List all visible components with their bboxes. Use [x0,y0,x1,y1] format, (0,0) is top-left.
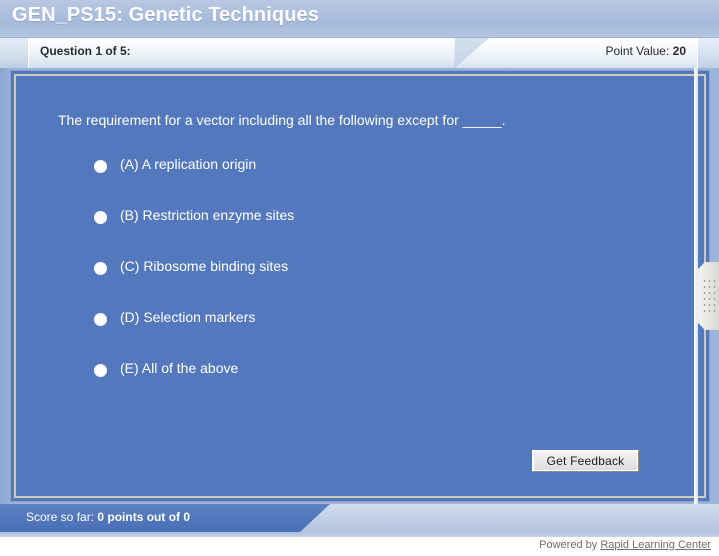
powered-by-prefix: Powered by [539,539,600,551]
score-bar: Score so far: 0 points out of 0 [0,504,719,532]
footer: Powered by Rapid Learning Center [0,532,719,556]
rapid-learning-center-link[interactable]: Rapid Learning Center [600,539,711,551]
question-counter-label: Question 1 of 5: [40,44,131,58]
meta-bar-right-shoulder [697,38,719,68]
answer-option-label: (E) All of the above [120,360,238,376]
footer-accent-strip [0,532,719,537]
powered-by-text: Powered by Rapid Learning Center [539,539,711,551]
title-bar: GEN_PS15: Genetic Techniques [0,0,719,38]
question-meta-bar: Question 1 of 5: Point Value: 20 [0,38,719,68]
score-value: 0 points out of 0 [97,510,190,524]
answer-option-label: (C) Ribosome binding sites [120,258,288,274]
resize-grip-dots-icon [702,278,716,316]
quiz-application: GEN_PS15: Genetic Techniques Question 1 … [0,0,719,556]
question-stem: The requirement for a vector including a… [58,112,505,128]
radio-button-icon[interactable] [94,364,107,377]
answer-option-label: (B) Restriction enzyme sites [120,207,294,223]
point-value-number: 20 [673,44,686,58]
question-panel: The requirement for a vector including a… [16,76,704,496]
score-prefix: Score so far: [26,510,97,524]
radio-button-icon[interactable] [94,160,107,173]
radio-button-icon[interactable] [94,313,107,326]
radio-button-icon[interactable] [94,211,107,224]
answer-option-label: (A) A replication origin [120,156,256,172]
answer-option-label: (D) Selection markers [120,309,255,325]
radio-button-icon[interactable] [94,262,107,275]
point-value-prefix: Point Value: [605,44,672,58]
get-feedback-button[interactable]: Get Feedback [532,450,639,472]
point-value-label: Point Value: 20 [605,44,686,58]
score-label: Score so far: 0 points out of 0 [26,510,190,524]
meta-bar-left-shoulder [0,38,29,68]
page-title: GEN_PS15: Genetic Techniques [12,4,319,27]
